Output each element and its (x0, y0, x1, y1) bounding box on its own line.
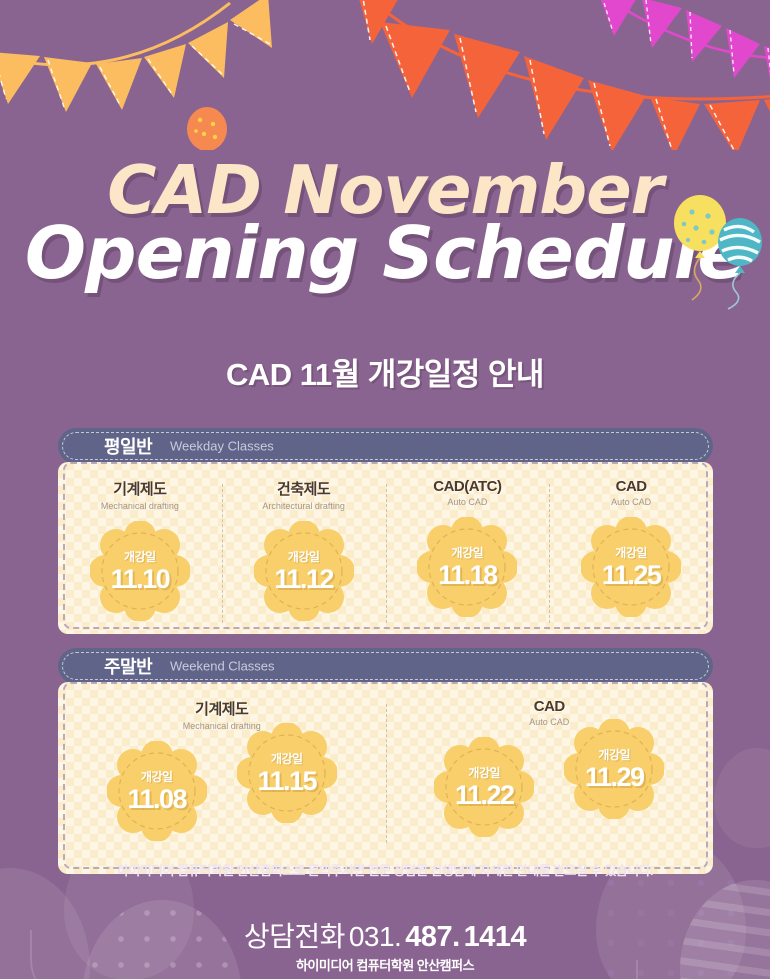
date-badge: 개강일 11.29 (564, 719, 664, 819)
section-header-weekend: 주말반 Weekend Classes (58, 648, 713, 684)
poster-title: CAD November Opening Schedule (0, 160, 770, 286)
date-badge: 개강일 11.22 (434, 737, 534, 837)
contact-phone[interactable]: 상담전화 031. 487. 1414 (0, 915, 770, 955)
course-name-en: Auto CAD (611, 497, 651, 507)
course-name-ko: 기계제도 (195, 698, 248, 719)
campus-name: 하이미디어 컴퓨터학원 안산캠퍼스 (0, 955, 770, 974)
date-badge: 개강일 11.08 (107, 741, 207, 841)
badge-label: 개강일 (274, 548, 333, 565)
course-name-ko: CAD (616, 478, 647, 495)
course-name-en: Mechanical drafting (101, 501, 179, 511)
date-badge: 개강일 11.15 (237, 723, 337, 823)
badge-date: 11.08 (127, 785, 186, 813)
badge-date: 11.18 (438, 561, 497, 589)
yellow-bunting (0, 0, 272, 112)
course-name-ko: CAD(ATC) (433, 478, 501, 495)
yellow-dotted-balloon (674, 195, 726, 300)
poster-subtitle: CAD 11월 개강일정 안내 (0, 349, 770, 394)
section-title-en-weekday: Weekday Classes (170, 439, 274, 454)
badge-date: 11.22 (455, 781, 514, 809)
date-badge: 개강일 11.10 (90, 521, 190, 621)
section-title-ko-weekend: 주말반 (104, 653, 152, 679)
orange-confetti-balloon (187, 107, 227, 150)
section-title-en-weekend: Weekend Classes (170, 659, 275, 674)
course-column-weekday-3: CAD(ATC) Auto CAD (386, 462, 550, 639)
course-name-en: Architectural drafting (262, 501, 345, 511)
course-column-weekday-4: CAD Auto CAD (549, 462, 713, 639)
badge-date: 11.25 (602, 561, 661, 589)
badge-date: 11.15 (257, 767, 316, 795)
course-group-weekend-2: CAD Auto CAD (386, 682, 714, 859)
badge-label: 개강일 (585, 746, 644, 763)
poster-canvas: CAD November Opening Schedule (0, 0, 770, 979)
course-column-weekday-2: 건축제도 Architectural drafting (222, 462, 386, 639)
phone-prefix: 031. (349, 921, 402, 952)
badge-label: 개강일 (602, 544, 661, 561)
date-badge: 개강일 11.25 (581, 517, 681, 617)
section-header-weekday: 평일반 Weekday Classes (58, 428, 713, 464)
title-balloons (668, 190, 768, 310)
panel-weekend: 기계제도 Mechanical drafting (58, 682, 713, 874)
badge-label: 개강일 (438, 544, 497, 561)
course-name-en: Auto CAD (447, 497, 487, 507)
footer-notice: 하이미디어 컴퓨터학원 안산캠퍼스로 문의주시면 전문 상담원 선생님께 자세한… (0, 860, 770, 879)
bg-balloon-mid-right (714, 748, 770, 848)
course-name-ko: 기계제도 (113, 478, 166, 499)
badge-date: 11.12 (274, 565, 333, 593)
badge-label: 개강일 (127, 768, 186, 785)
panel-weekday: 기계제도 Mechanical drafting (58, 462, 713, 634)
phone-last: 1414 (464, 921, 527, 953)
badge-date: 11.10 (111, 565, 170, 593)
badge-label: 개강일 (111, 548, 170, 565)
magenta-bunting (598, 0, 770, 90)
course-group-weekend-1: 기계제도 Mechanical drafting (58, 682, 386, 859)
bunting-decoration (0, 0, 770, 150)
section-weekday: 평일반 Weekday Classes 기계제도 Mechanical draf… (58, 428, 713, 634)
date-badge: 개강일 11.12 (254, 521, 354, 621)
course-name-ko: CAD (534, 698, 565, 715)
section-title-ko-weekday: 평일반 (104, 433, 152, 459)
phone-mid: 487. (405, 921, 459, 953)
course-name-en: Auto CAD (529, 717, 569, 727)
badge-date: 11.29 (585, 763, 644, 791)
badge-label: 개강일 (455, 764, 514, 781)
teal-striped-balloon (718, 218, 762, 309)
date-badge: 개강일 11.18 (417, 517, 517, 617)
title-line-2: Opening Schedule (0, 220, 770, 286)
badge-label: 개강일 (257, 750, 316, 767)
section-weekend: 주말반 Weekend Classes 기계제도 Mechanical draf… (58, 648, 713, 874)
phone-label: 상담전화 (244, 921, 345, 952)
course-name-ko: 건축제도 (277, 478, 330, 499)
course-column-weekday-1: 기계제도 Mechanical drafting (58, 462, 222, 639)
